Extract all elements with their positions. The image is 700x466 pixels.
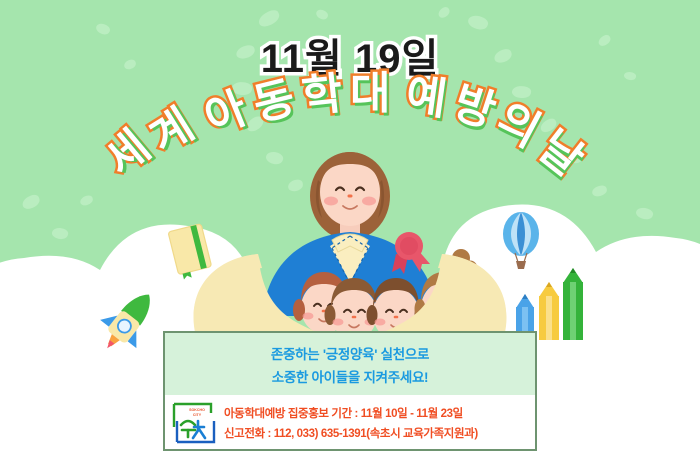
main-headline: 세 계 아 동 학 대 예 방 의 날 (0, 88, 700, 198)
message-text-area: 존중하는 '긍정양육' 실천으로 소중한 아이들을 지켜주세요! (165, 333, 535, 395)
headline-char-6: 대 (350, 72, 390, 116)
headline-char-10: 의 (490, 97, 546, 155)
headline-char-12: 날 (531, 124, 590, 184)
headline-char-8: 예 (403, 73, 449, 122)
headline-char-9: 방 (448, 81, 500, 135)
message-line-2: 소중한 아이들을 지켜주세요! (272, 366, 429, 386)
footer-line-2: 신고전화 : 112, 033) 635-1391(속초시 교육가족지원과) (224, 425, 478, 441)
headline-char-5: 학 (300, 72, 345, 120)
pencil-green-icon (563, 268, 583, 340)
pencil-yellow-icon (539, 282, 559, 340)
book-icon (168, 224, 213, 281)
footer-area: SOKCHO CITY 아동학대예방 집중홍보 기간 : 11월 10일 - 1… (165, 395, 535, 450)
message-line-1: 존중하는 '긍정양육' 실천으로 (271, 343, 429, 363)
poster-canvas: 11월 19일 세 계 아 동 학 대 예 방 의 날 존중하는 '긍정양육' … (0, 0, 700, 466)
sokcho-city-logo: SOKCHO CITY (171, 401, 217, 445)
rocket-icon (89, 280, 167, 362)
logo-caption-top: SOKCHO (189, 408, 205, 412)
footer-text-lines: 아동학대예방 집중홍보 기간 : 11월 10일 - 11월 23일 신고전화 … (224, 405, 478, 441)
hot-air-balloon-icon (503, 212, 539, 269)
footer-line-1: 아동학대예방 집중홍보 기간 : 11월 10일 - 11월 23일 (224, 405, 478, 421)
message-box: 존중하는 '긍정양육' 실천으로 소중한 아이들을 지켜주세요! SOKCHO … (163, 331, 537, 451)
logo-caption-bottom: CITY (193, 413, 202, 417)
headline-char-3: 아 (199, 86, 253, 142)
